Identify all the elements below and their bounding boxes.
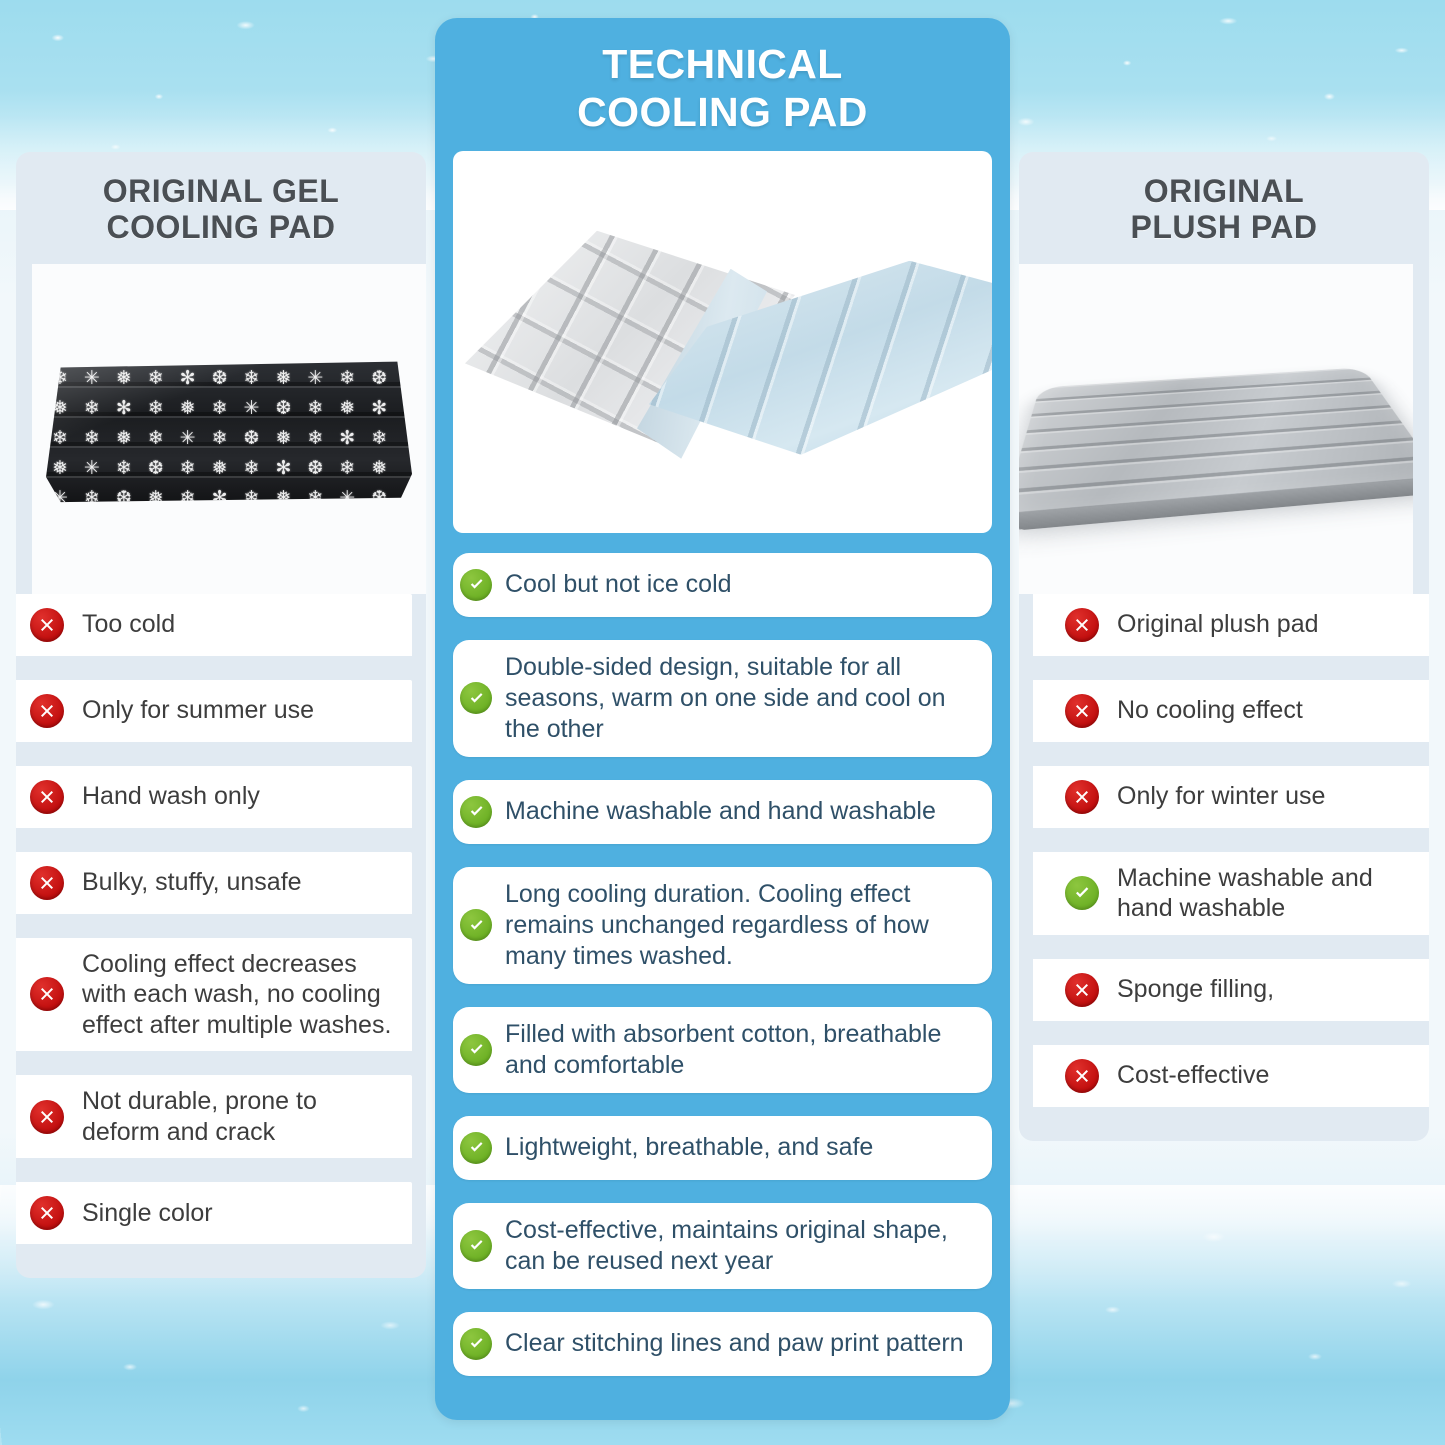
list-item-label: Lightweight, breathable, and safe (505, 1132, 873, 1163)
check-icon (460, 682, 492, 714)
list-item-label: Too cold (82, 609, 175, 640)
list-item[interactable]: Too cold (16, 594, 412, 656)
cross-icon (30, 1196, 64, 1230)
left-heading-line2: COOLING PAD (26, 210, 416, 246)
check-icon (460, 909, 492, 941)
page-title: TECHNICAL COOLING PAD (435, 18, 1010, 151)
cross-icon (30, 608, 64, 642)
gel-pad-illustration: ❄✳❅❄✻❆❄❅✳❄❆❅❄✻❄❅❄✳❆❄❅✻❄❄❅❄✳❄❆❅❄✻❄❅✳❄❆❄❅❄… (46, 356, 412, 504)
list-item-label: Filled with absorbent cotton, breathable… (505, 1019, 970, 1081)
cross-icon (30, 977, 64, 1011)
list-item[interactable]: Cooling effect decreases with each wash,… (16, 938, 412, 1052)
list-item-label: Hand wash only (82, 781, 260, 812)
right-heading-line1: ORIGINAL (1029, 174, 1419, 210)
list-item-label: Only for summer use (82, 695, 314, 726)
left-heading-line1: ORIGINAL GEL (26, 174, 416, 210)
cross-icon (1065, 780, 1099, 814)
list-item[interactable]: Clear stitching lines and paw print patt… (453, 1312, 992, 1376)
left-feature-list: Too cold Only for summer use Hand wash o… (16, 594, 426, 1245)
cross-icon (1065, 973, 1099, 1007)
list-item[interactable]: Machine washable and hand washable (453, 780, 992, 844)
left-column-heading: ORIGINAL GEL COOLING PAD (16, 152, 426, 264)
list-item-label: Not durable, prone to deform and crack (82, 1086, 396, 1147)
list-item-label: Single color (82, 1198, 213, 1229)
list-item[interactable]: Machine washable and hand washable (1033, 852, 1429, 935)
gel-pad-sheen (46, 356, 412, 504)
list-item[interactable]: Lightweight, breathable, and safe (453, 1116, 992, 1180)
list-item-label: Machine washable and hand washable (1117, 863, 1413, 924)
list-item[interactable]: Long cooling duration. Cooling effect re… (453, 867, 992, 984)
check-icon (460, 1132, 492, 1164)
cross-icon (30, 694, 64, 728)
list-item[interactable]: Bulky, stuffy, unsafe (16, 852, 412, 914)
list-item-label: Cost-effective, maintains original shape… (505, 1215, 970, 1277)
cross-icon (1065, 1059, 1099, 1093)
right-feature-list: Original plush pad No cooling effect Onl… (1019, 594, 1429, 1107)
list-item-label: Cool but not ice cold (505, 569, 732, 600)
cooling-pad-illustration (461, 225, 992, 475)
check-icon (1065, 876, 1099, 910)
check-icon (460, 569, 492, 601)
list-item[interactable]: Single color (16, 1182, 412, 1244)
list-item[interactable]: Cost-effective, maintains original shape… (453, 1203, 992, 1289)
right-column-footer-spacer (1019, 1107, 1429, 1141)
check-icon (460, 1034, 492, 1066)
cross-icon (1065, 608, 1099, 642)
list-item[interactable]: No cooling effect (1033, 680, 1429, 742)
cross-icon (30, 780, 64, 814)
center-feature-list: Cool but not ice cold Double-sided desig… (435, 533, 1010, 1376)
plush-pad-illustration (1019, 367, 1413, 520)
list-item-label: Cost-effective (1117, 1060, 1269, 1091)
right-comparison-column: ORIGINAL PLUSH PAD Original plush pad No… (1019, 152, 1429, 1141)
list-item[interactable]: Double-sided design, suitable for all se… (453, 640, 992, 757)
list-item-label: No cooling effect (1117, 695, 1303, 726)
list-item[interactable]: Cool but not ice cold (453, 553, 992, 617)
list-item[interactable]: Sponge filling, (1033, 959, 1429, 1021)
left-comparison-column: ORIGINAL GEL COOLING PAD ❄✳❅❄✻❆❄❅✳❄❆❅❄✻❄… (16, 152, 426, 1278)
list-item-label: Only for winter use (1117, 781, 1325, 812)
list-item-label: Original plush pad (1117, 609, 1319, 640)
list-item[interactable]: Original plush pad (1033, 594, 1429, 656)
list-item-label: Machine washable and hand washable (505, 796, 936, 827)
cross-icon (30, 866, 64, 900)
cross-icon (1065, 694, 1099, 728)
list-item-label: Cooling effect decreases with each wash,… (82, 949, 396, 1041)
list-item-label: Bulky, stuffy, unsafe (82, 867, 302, 898)
cross-icon (30, 1100, 64, 1134)
check-icon (460, 1230, 492, 1262)
check-icon (460, 796, 492, 828)
list-item[interactable]: Only for summer use (16, 680, 412, 742)
right-column-heading: ORIGINAL PLUSH PAD (1019, 152, 1429, 264)
title-line2: COOLING PAD (451, 88, 994, 136)
list-item[interactable]: Only for winter use (1033, 766, 1429, 828)
technical-cooling-pad-photo (453, 151, 992, 533)
list-item[interactable]: Hand wash only (16, 766, 412, 828)
list-item-label: Double-sided design, suitable for all se… (505, 652, 970, 745)
left-column-footer-spacer (16, 1244, 426, 1278)
list-item[interactable]: Filled with absorbent cotton, breathable… (453, 1007, 992, 1093)
list-item[interactable]: Not durable, prone to deform and crack (16, 1075, 412, 1158)
right-heading-line2: PLUSH PAD (1029, 210, 1419, 246)
original-plush-pad-photo (1019, 264, 1413, 594)
title-line1: TECHNICAL (451, 40, 994, 88)
center-highlight-panel: TECHNICAL COOLING PAD Cool but not ice c… (435, 18, 1010, 1420)
list-item-label: Clear stitching lines and paw print patt… (505, 1328, 964, 1359)
list-item[interactable]: Cost-effective (1033, 1045, 1429, 1107)
list-item-label: Long cooling duration. Cooling effect re… (505, 879, 970, 972)
check-icon (460, 1328, 492, 1360)
gel-cooling-pad-photo: ❄✳❅❄✻❆❄❅✳❄❆❅❄✻❄❅❄✳❆❄❅✻❄❄❅❄✳❄❆❅❄✻❄❅✳❄❆❄❅❄… (32, 264, 426, 594)
infographic-page: ORIGINAL GEL COOLING PAD ❄✳❅❄✻❆❄❅✳❄❆❅❄✻❄… (0, 0, 1445, 1445)
list-item-label: Sponge filling, (1117, 974, 1274, 1005)
